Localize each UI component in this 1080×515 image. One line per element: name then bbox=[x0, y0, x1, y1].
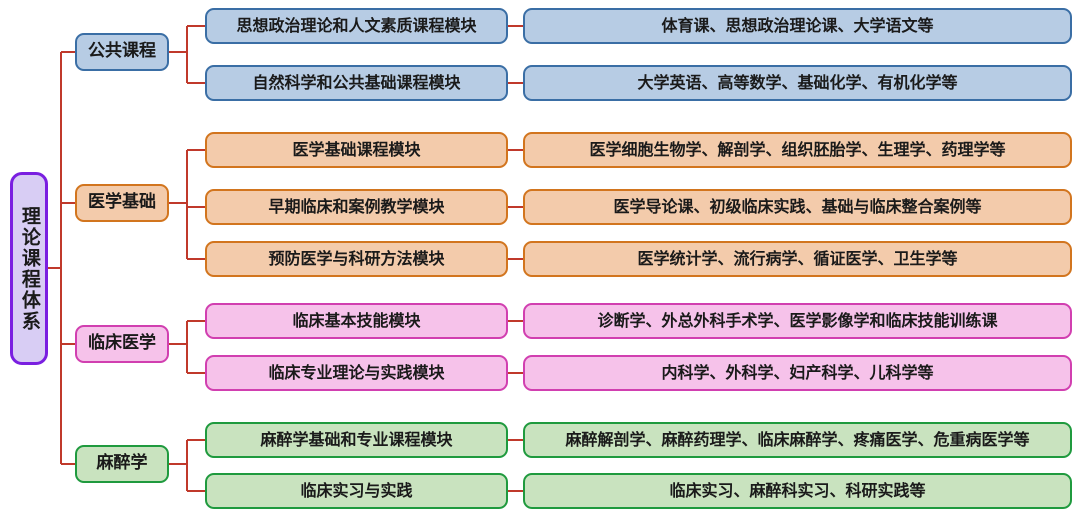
category-node-anesthesiology[interactable]: 麻醉学 bbox=[75, 445, 169, 483]
course-list-node[interactable]: 医学统计学、流行病学、循证医学、卫生学等 bbox=[523, 241, 1072, 277]
course-list-node[interactable]: 医学导论课、初级临床实践、基础与临床整合案例等 bbox=[523, 189, 1072, 225]
mindmap-canvas: 理论课程体系 公共课程 思想政治理论和人文素质课程模块 体育课、思想政治理论课、… bbox=[0, 0, 1080, 515]
module-node[interactable]: 早期临床和案例教学模块 bbox=[205, 189, 508, 225]
module-node[interactable]: 临床基本技能模块 bbox=[205, 303, 508, 339]
module-node[interactable]: 麻醉学基础和专业课程模块 bbox=[205, 422, 508, 458]
module-node[interactable]: 临床专业理论与实践模块 bbox=[205, 355, 508, 391]
course-list-node[interactable]: 大学英语、高等数学、基础化学、有机化学等 bbox=[523, 65, 1072, 101]
category-node-public-courses[interactable]: 公共课程 bbox=[75, 33, 169, 71]
module-node[interactable]: 预防医学与科研方法模块 bbox=[205, 241, 508, 277]
category-node-clinical-medicine[interactable]: 临床医学 bbox=[75, 325, 169, 363]
course-list-node[interactable]: 医学细胞生物学、解剖学、组织胚胎学、生理学、药理学等 bbox=[523, 132, 1072, 168]
course-list-node[interactable]: 诊断学、外总外科手术学、医学影像学和临床技能训练课 bbox=[523, 303, 1072, 339]
course-list-node[interactable]: 体育课、思想政治理论课、大学语文等 bbox=[523, 8, 1072, 44]
course-list-node[interactable]: 内科学、外科学、妇产科学、儿科学等 bbox=[523, 355, 1072, 391]
module-node[interactable]: 临床实习与实践 bbox=[205, 473, 508, 509]
course-list-node[interactable]: 麻醉解剖学、麻醉药理学、临床麻醉学、疼痛医学、危重病医学等 bbox=[523, 422, 1072, 458]
category-node-medical-basics[interactable]: 医学基础 bbox=[75, 184, 169, 222]
course-list-node[interactable]: 临床实习、麻醉科实习、科研实践等 bbox=[523, 473, 1072, 509]
module-node[interactable]: 医学基础课程模块 bbox=[205, 132, 508, 168]
root-node[interactable]: 理论课程体系 bbox=[10, 172, 48, 365]
module-node[interactable]: 思想政治理论和人文素质课程模块 bbox=[205, 8, 508, 44]
module-node[interactable]: 自然科学和公共基础课程模块 bbox=[205, 65, 508, 101]
